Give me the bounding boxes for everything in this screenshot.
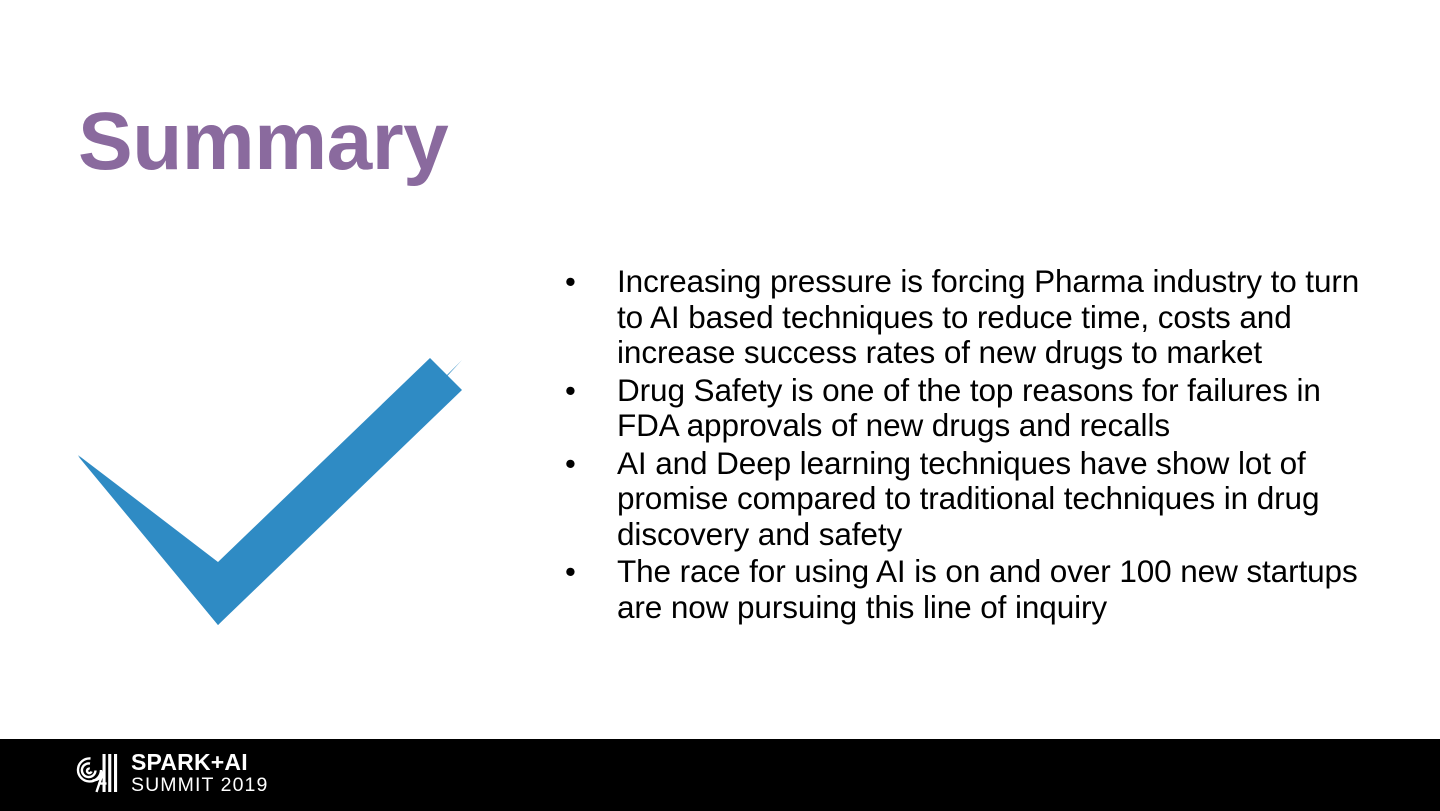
bullet-marker-icon: • (552, 264, 617, 300)
page-title: Summary (78, 101, 448, 183)
checkmark-graphic (60, 340, 480, 640)
bullet-list: • Increasing pressure is forcing Pharma … (552, 264, 1382, 627)
brand-logo: SPARK+AI SUMMIT 2019 (70, 750, 268, 796)
spark-ai-summit-spiral-logo-icon (70, 750, 122, 796)
list-item-text: Increasing pressure is forcing Pharma in… (617, 264, 1382, 371)
bullet-marker-icon: • (552, 554, 617, 590)
presentation-slide: Summary • Increasing pressure is forcing… (0, 0, 1440, 811)
bullet-marker-icon: • (552, 373, 617, 409)
list-item-text: AI and Deep learning techniques have sho… (617, 446, 1382, 553)
checkmark-icon (60, 340, 480, 640)
list-item-text: The race for using AI is on and over 100… (617, 554, 1382, 625)
slide-footer: SPARK+AI SUMMIT 2019 (0, 739, 1440, 811)
list-item: • Drug Safety is one of the top reasons … (552, 373, 1382, 444)
brand-wordmark: SPARK+AI SUMMIT 2019 (131, 750, 268, 796)
bullet-marker-icon: • (552, 446, 617, 482)
brand-line-primary: SPARK+AI (131, 750, 268, 774)
list-item-text: Drug Safety is one of the top reasons fo… (617, 373, 1382, 444)
list-item: • The race for using AI is on and over 1… (552, 554, 1382, 625)
brand-line-secondary: SUMMIT 2019 (131, 774, 268, 796)
list-item: • Increasing pressure is forcing Pharma … (552, 264, 1382, 371)
list-item: • AI and Deep learning techniques have s… (552, 446, 1382, 553)
